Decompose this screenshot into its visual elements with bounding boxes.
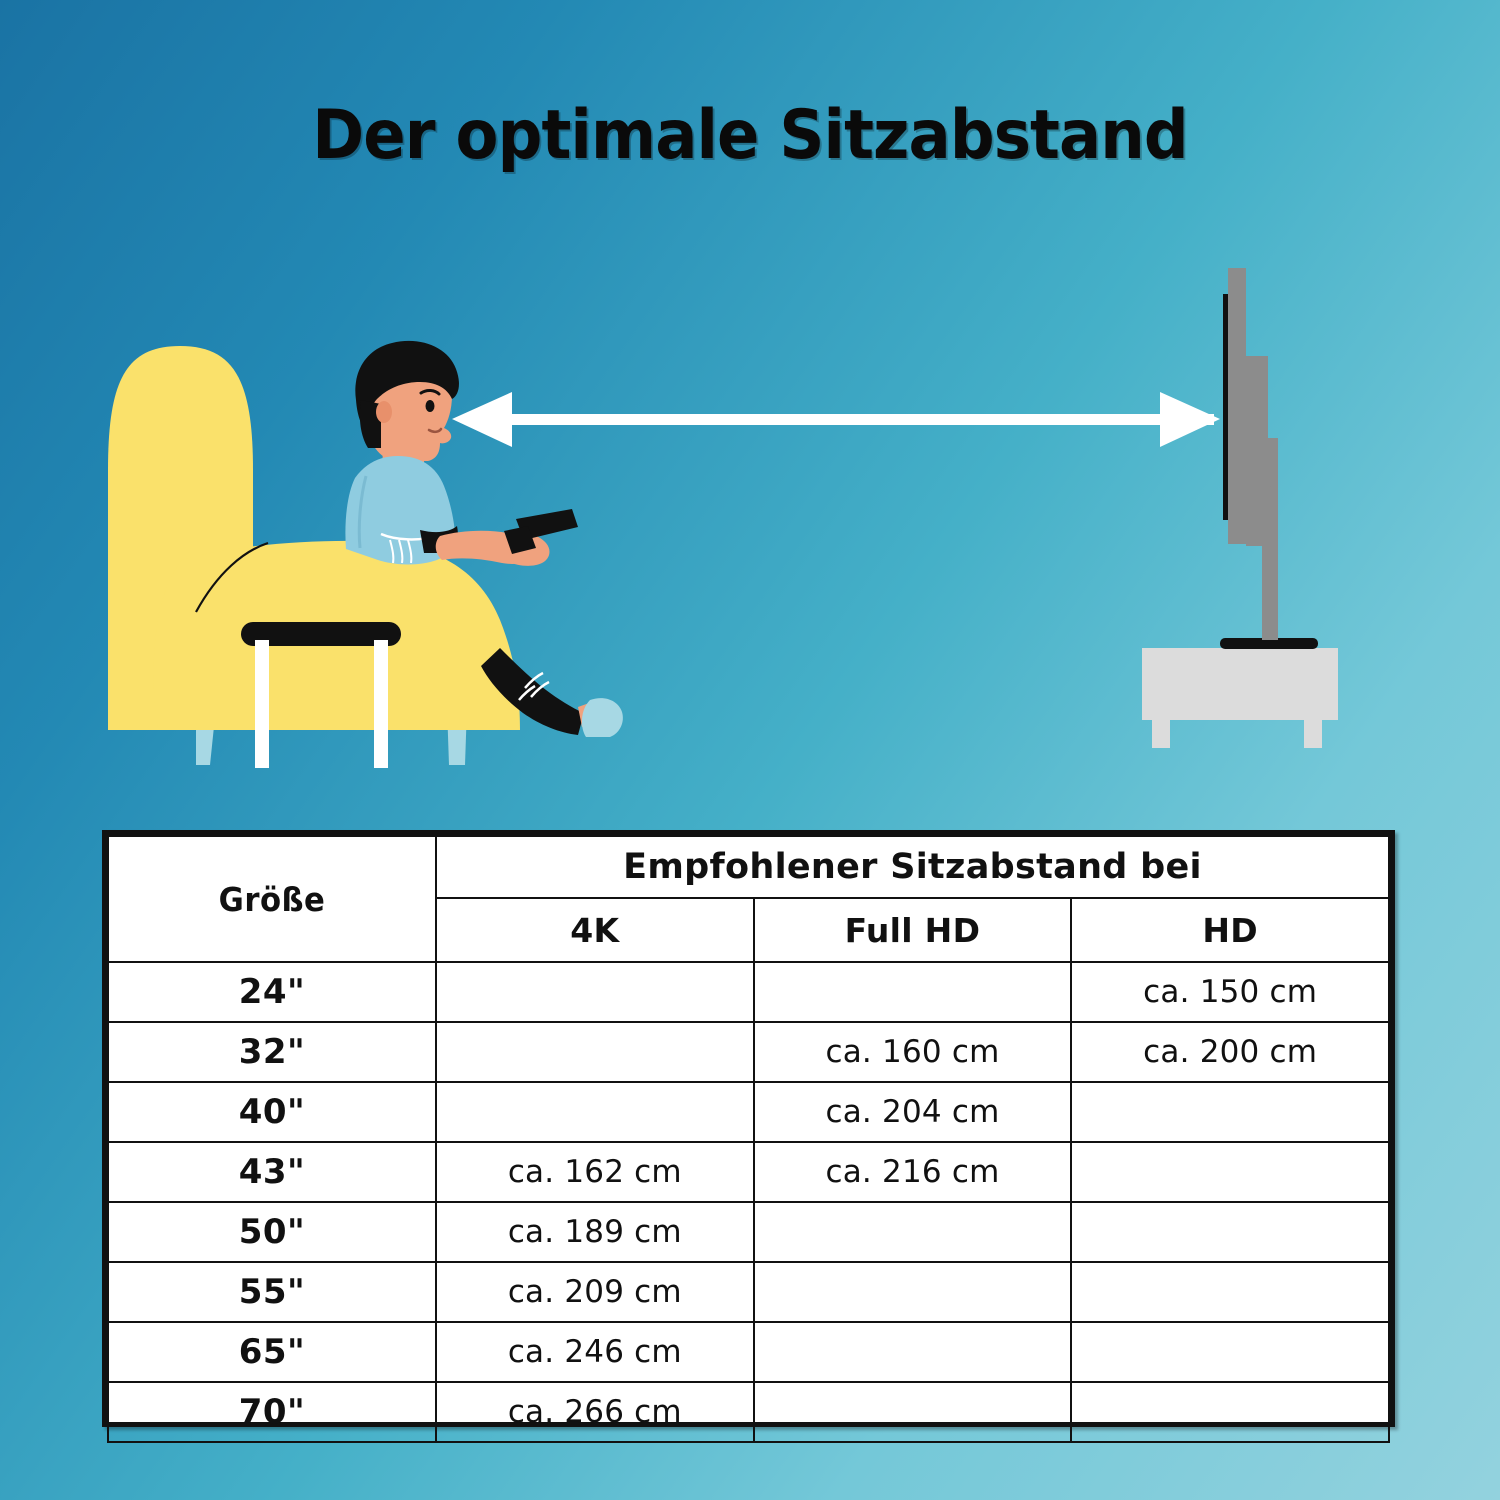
cell-4k: ca. 266 cm (436, 1382, 754, 1442)
cell-size: 40" (108, 1082, 436, 1142)
cell-hd (1071, 1082, 1389, 1142)
cell-hd (1071, 1202, 1389, 1262)
header-4k: 4K (436, 898, 754, 962)
header-size: Größe (119, 836, 424, 962)
distance-table-container: Größe Empfohlener Sitzabstand bei 4K Ful… (102, 830, 1395, 1427)
cell-fullhd: ca. 160 cm (754, 1022, 1072, 1082)
table-row: 70" ca. 266 cm (108, 1382, 1389, 1442)
table-row: 40" ca. 204 cm (108, 1082, 1389, 1142)
cell-size: 70" (108, 1382, 436, 1442)
illustration-scene (0, 0, 1500, 830)
cell-fullhd (754, 1202, 1072, 1262)
table-row: 43" ca. 162 cm ca. 216 cm (108, 1142, 1389, 1202)
cell-4k: ca. 162 cm (436, 1142, 754, 1202)
header-fullhd: Full HD (754, 898, 1072, 962)
cell-size: 55" (108, 1262, 436, 1322)
tv-cabinet (1142, 648, 1338, 748)
cell-fullhd: ca. 216 cm (754, 1142, 1072, 1202)
cell-fullhd (754, 962, 1072, 1022)
table-row: 55" ca. 209 cm (108, 1262, 1389, 1322)
infographic-root: Der optimale Sitzabstand (0, 0, 1500, 1500)
cell-4k: ca. 246 cm (436, 1322, 754, 1382)
cell-size: 43" (108, 1142, 436, 1202)
cell-hd: ca. 200 cm (1071, 1022, 1389, 1082)
header-hd: HD (1071, 898, 1389, 962)
table-row: 24" ca. 150 cm (108, 962, 1389, 1022)
cell-hd (1071, 1382, 1389, 1442)
television-side-view (1142, 268, 1338, 748)
cell-4k: ca. 209 cm (436, 1262, 754, 1322)
cell-fullhd (754, 1322, 1072, 1382)
cell-hd: ca. 150 cm (1071, 962, 1389, 1022)
table-row: 65" ca. 246 cm (108, 1322, 1389, 1382)
cell-fullhd (754, 1382, 1072, 1442)
header-group: Empfohlener Sitzabstand bei (436, 836, 1389, 898)
cell-size: 65" (108, 1322, 436, 1382)
cell-size: 32" (108, 1022, 436, 1082)
table-header-row-1: Größe Empfohlener Sitzabstand bei (108, 836, 1389, 898)
cell-fullhd: ca. 204 cm (754, 1082, 1072, 1142)
cell-4k: ca. 189 cm (436, 1202, 754, 1262)
cell-4k (436, 1022, 754, 1082)
cell-size: 50" (108, 1202, 436, 1262)
cell-hd (1071, 1262, 1389, 1322)
cell-hd (1071, 1322, 1389, 1382)
distance-table: Größe Empfohlener Sitzabstand bei 4K Ful… (107, 835, 1390, 1443)
cell-size: 24" (108, 962, 436, 1022)
cell-hd (1071, 1142, 1389, 1202)
cell-4k (436, 962, 754, 1022)
cell-4k (436, 1082, 754, 1142)
distance-arrow (452, 392, 1220, 447)
table-row: 32" ca. 160 cm ca. 200 cm (108, 1022, 1389, 1082)
table-row: 50" ca. 189 cm (108, 1202, 1389, 1262)
cell-fullhd (754, 1262, 1072, 1322)
